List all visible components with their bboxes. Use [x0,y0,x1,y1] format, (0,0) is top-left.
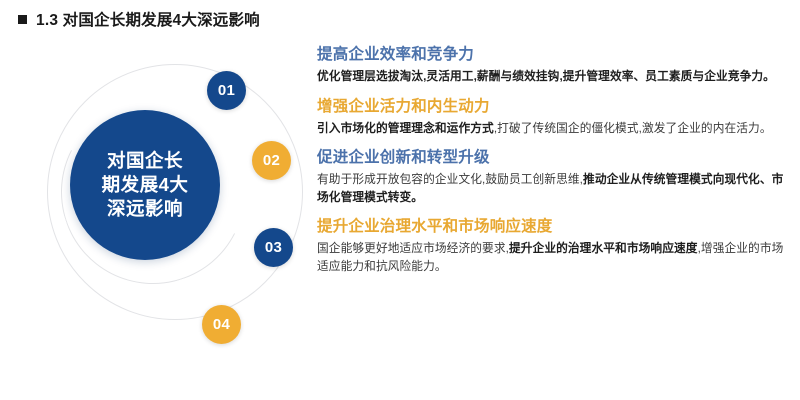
content-item-01-title: 提高企业效率和竞争力 [317,44,795,65]
content-item-02-body-normal: ,打破了传统国企的僵化模式,激发了企业的内在活力。 [494,122,772,135]
content-item-02-title: 增强企业活力和内生动力 [317,96,795,117]
content-item-03-title: 促进企业创新和转型升级 [317,147,795,168]
step-badge-03[interactable]: 03 [254,228,293,267]
content-item-02-body: 引入市场化的管理理念和运作方式,打破了传统国企的僵化模式,激发了企业的内在活力。 [317,120,795,138]
content-item-01: 提高企业效率和竞争力 优化管理层选拔淘汰,灵活用工,薪酬与绩效挂钩,提升管理效率… [317,44,795,86]
step-badge-03-label: 03 [265,239,282,256]
content-item-03-body: 有助于形成开放包容的企业文化,鼓励员工创新思维,推动企业从传统管理模式向现代化、… [317,171,795,206]
square-bullet-icon [18,15,27,24]
step-badge-01[interactable]: 01 [207,71,246,110]
content-item-04-title: 提升企业治理水平和市场响应速度 [317,216,795,237]
center-title-line-1: 对国企长 [107,149,183,173]
content-item-03-body-lead: 有助于形成开放包容的企业文化,鼓励员工创新思维, [317,173,583,186]
center-title-line-3: 深远影响 [107,197,183,221]
content-item-04: 提升企业治理水平和市场响应速度 国企能够更好地适应市场经济的要求,提升企业的治理… [317,216,795,275]
content-item-02: 增强企业活力和内生动力 引入市场化的管理理念和运作方式,打破了传统国企的僵化模式… [317,96,795,138]
content-item-04-body-lead: 国企能够更好地适应市场经济的要求, [317,242,509,255]
page-title: 1.3 对国企长期发展4大深远影响 [36,8,260,30]
step-badge-04[interactable]: 04 [202,305,241,344]
content-item-04-body-bold: 提升企业的治理水平和市场响应速度 [509,242,698,255]
content-item-01-body-bold: 优化管理层选拔淘汰,灵活用工,薪酬与绩效挂钩,提升管理效率、员工素质与企业竞争力… [317,70,775,83]
content-item-04-body: 国企能够更好地适应市场经济的要求,提升企业的治理水平和市场响应速度,增强企业的市… [317,240,795,275]
slide-header: 1.3 对国企长期发展4大深远影响 [18,8,260,30]
content-item-02-body-bold: 引入市场化的管理理念和运作方式 [317,122,494,135]
step-badge-02-label: 02 [263,152,280,169]
step-badge-01-label: 01 [218,82,235,99]
center-circle: 对国企长 期发展4大 深远影响 [70,110,220,260]
content-item-03: 促进企业创新和转型升级 有助于形成开放包容的企业文化,鼓励员工创新思维,推动企业… [317,147,795,206]
step-badge-04-label: 04 [213,316,230,333]
content-item-01-body: 优化管理层选拔淘汰,灵活用工,薪酬与绩效挂钩,提升管理效率、员工素质与企业竞争力… [317,68,795,86]
center-title-line-2: 期发展4大 [102,173,189,197]
content-list: 提高企业效率和竞争力 优化管理层选拔淘汰,灵活用工,薪酬与绩效挂钩,提升管理效率… [317,44,795,285]
step-badge-02[interactable]: 02 [252,141,291,180]
circular-diagram: 对国企长 期发展4大 深远影响 01 02 03 04 [30,48,320,393]
